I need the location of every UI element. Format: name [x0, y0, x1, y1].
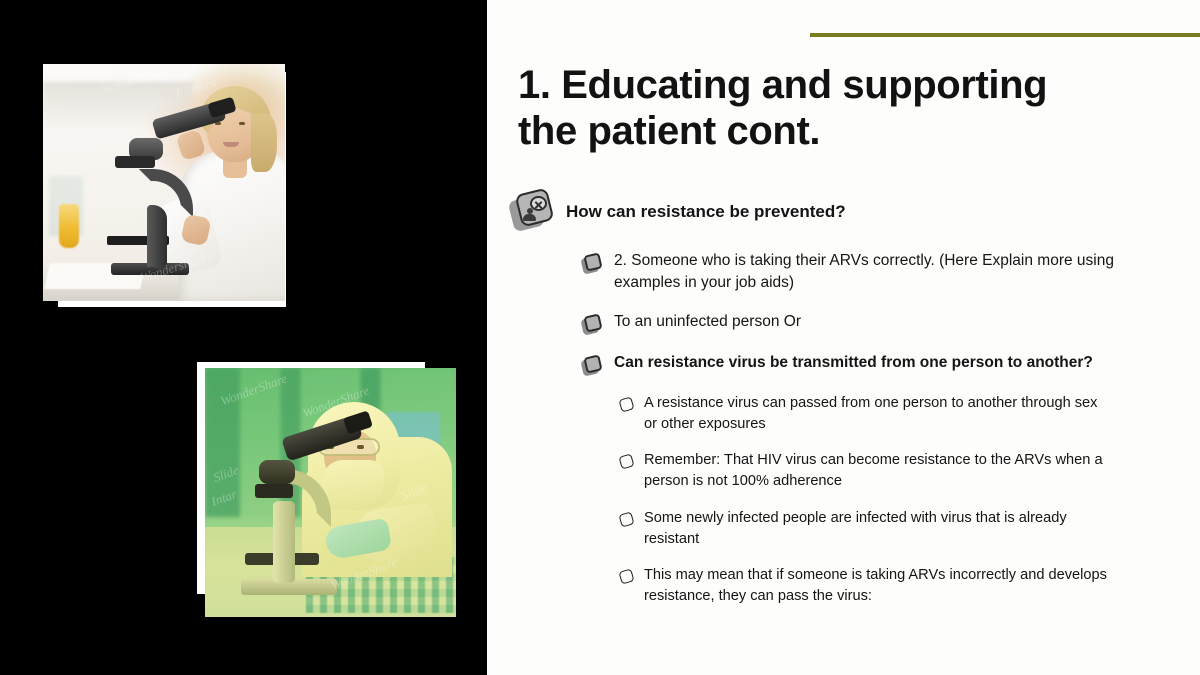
question-row: How can resistance be prevented?	[510, 194, 1150, 234]
level1-bullet-list: 2. Someone who is taking their ARVs corr…	[510, 250, 1150, 376]
list-item-label: This may mean that if someone is taking …	[644, 565, 1114, 606]
hollow-rounded-square-bullet-icon	[618, 454, 634, 470]
hollow-rounded-square-bullet-icon	[618, 396, 634, 412]
level2-bullet-list: A resistance virus can passed from one p…	[510, 393, 1150, 607]
microscope-objective	[255, 484, 293, 498]
lab-flask	[59, 204, 79, 248]
scientist-hair-side	[251, 114, 277, 172]
rounded-square-bullet-icon	[582, 315, 602, 335]
list-item: This may mean that if someone is taking …	[620, 565, 1150, 606]
face-mask	[322, 460, 384, 502]
list-item: Can resistance virus be transmitted from…	[582, 352, 1150, 376]
microscope-objective	[115, 156, 155, 168]
scientist-eye-right	[239, 122, 245, 125]
presentation-slide: Wondershare Filmora Wondershare WonderSh…	[0, 0, 1200, 675]
slide-title-line-1: 1. Educating and supporting	[518, 62, 1138, 108]
list-item-label: A resistance virus can passed from one p…	[644, 393, 1114, 434]
list-item-label: Remember: That HIV virus can become resi…	[644, 450, 1114, 491]
title-accent-line	[810, 33, 1200, 37]
list-item: A resistance virus can passed from one p…	[620, 393, 1150, 434]
microscope-nosepiece	[259, 460, 295, 484]
list-item-label: Can resistance virus be transmitted from…	[614, 352, 1093, 374]
slide-body: How can resistance be prevented? 2. Some…	[510, 194, 1150, 623]
protective-suit-microscope-photo: WonderShare WonderShare Slide Intar Slid…	[205, 368, 456, 617]
slide-title: 1. Educating and supporting the patient …	[518, 62, 1138, 154]
person-speech-bubble-x-icon	[510, 190, 554, 234]
rounded-square-bullet-icon	[582, 356, 602, 376]
question-heading: How can resistance be prevented?	[566, 194, 846, 222]
researcher-eye-right	[357, 445, 364, 449]
list-item-label: To an uninfected person Or	[614, 311, 801, 333]
scientist-with-microscope-photo: Wondershare Filmora Wondershare	[43, 64, 285, 301]
hollow-rounded-square-bullet-icon	[618, 569, 634, 585]
scientist-mouth	[223, 142, 239, 147]
rounded-square-bullet-icon	[582, 254, 602, 274]
list-item-label: Some newly infected people are infected …	[644, 508, 1114, 549]
list-item: Remember: That HIV virus can become resi…	[620, 450, 1150, 491]
list-item: 2. Someone who is taking their ARVs corr…	[582, 250, 1150, 294]
list-item: To an uninfected person Or	[582, 311, 1150, 335]
slide-title-line-2: the patient cont.	[518, 108, 1138, 154]
list-item-label: 2. Someone who is taking their ARVs corr…	[614, 250, 1114, 294]
hollow-rounded-square-bullet-icon	[618, 511, 634, 527]
list-item: Some newly infected people are infected …	[620, 508, 1150, 549]
